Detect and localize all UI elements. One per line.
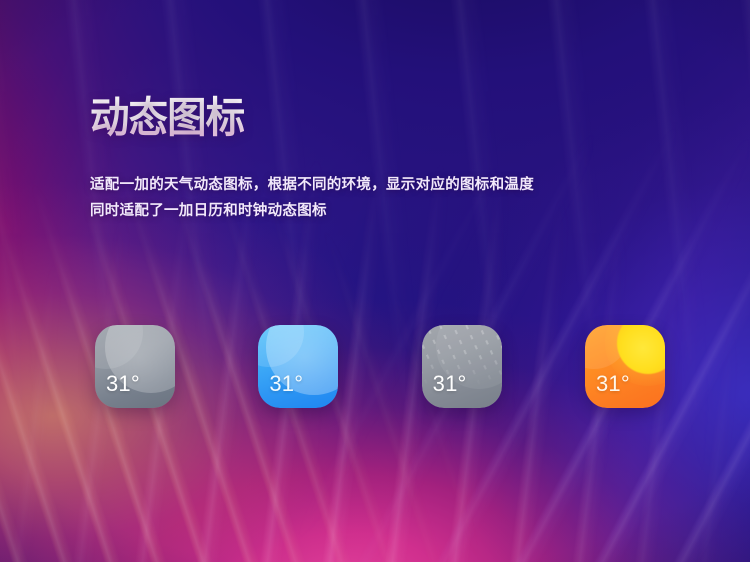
promo-slide: 动态图标 适配一加的天气动态图标，根据不同的环境，显示对应的图标和温度 同时适配… xyxy=(0,0,750,562)
temperature-label: 31° xyxy=(106,373,140,395)
weather-icon-sunny[interactable]: 31° xyxy=(585,325,665,408)
weather-icon-rain[interactable]: 31° xyxy=(422,325,502,408)
description-line-1: 适配一加的天气动态图标，根据不同的环境，显示对应的图标和温度 xyxy=(90,172,690,198)
weather-icon-cloudy[interactable]: 31° xyxy=(95,325,175,408)
temperature-label: 31° xyxy=(269,373,303,395)
description-line-2: 同时适配了一加日历和时钟动态图标 xyxy=(90,198,690,224)
slide-content: 动态图标 适配一加的天气动态图标，根据不同的环境，显示对应的图标和温度 同时适配… xyxy=(0,0,750,562)
weather-icon-row: 31° 31° 31° xyxy=(95,325,665,409)
temperature-label: 31° xyxy=(433,373,467,395)
page-title: 动态图标 xyxy=(90,94,244,142)
description-block: 适配一加的天气动态图标，根据不同的环境，显示对应的图标和温度 同时适配了一加日历… xyxy=(90,172,690,224)
temperature-label: 31° xyxy=(596,373,630,395)
weather-icon-clear[interactable]: 31° xyxy=(258,325,338,408)
